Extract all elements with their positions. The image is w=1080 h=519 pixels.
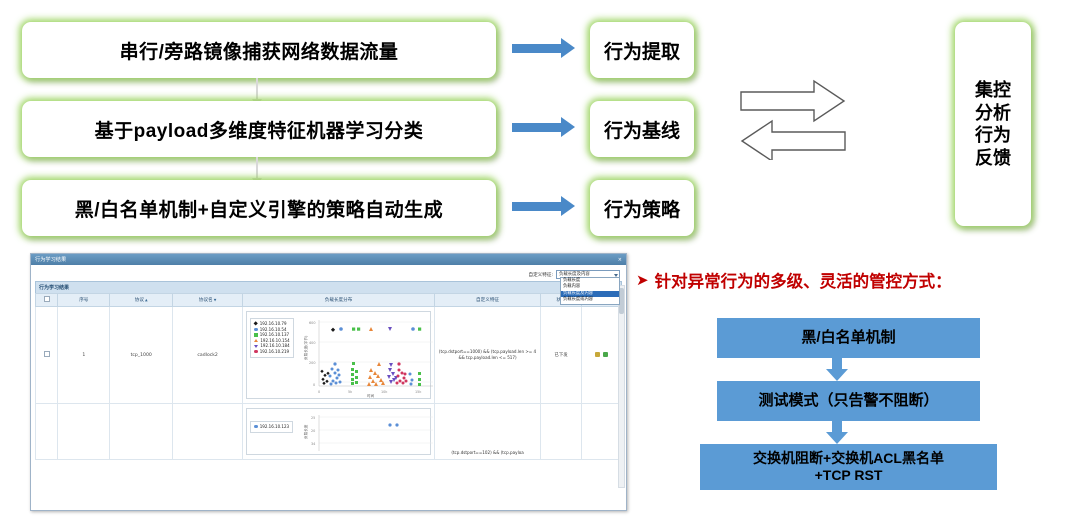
- row-expression-cell: (tcp.dstport==1000) && (tcp.payload.len …: [434, 307, 541, 404]
- flow-tag-box-2: 行为基线: [590, 101, 694, 157]
- flow-step-text-3: 黑/白名单机制+自定义引擎的策略自动生成: [75, 195, 443, 222]
- row-chart-cell: 192.16.10.79 192.16.10.54 192.16.10.137 …: [243, 307, 434, 404]
- flow-connector-1-2: [256, 78, 258, 100]
- row2-actions-cell: [581, 404, 621, 460]
- control-box-1: 黑/白名单机制: [717, 318, 980, 358]
- flow-connector-2-3: [256, 157, 258, 179]
- control-heading-text: 针对异常行为的多级、灵活的管控方式：: [655, 268, 952, 292]
- table-row[interactable]: 192.16.10.123 25 20 34: [36, 404, 622, 460]
- control-down-arrow-1: [826, 358, 848, 381]
- chart-1-points: [321, 327, 422, 386]
- results-table: 序号 协议 协议名 负载长度分布 自定义特征 状态 1 tcp_1000 cad…: [35, 293, 622, 460]
- flow-step-box-1: 串行/旁路镜像捕获网络数据流量: [22, 22, 496, 78]
- flow-step-text-1: 串行/旁路镜像捕获网络数据流量: [120, 37, 399, 64]
- edit-icon[interactable]: [595, 352, 600, 357]
- svg-text:600: 600: [309, 321, 315, 325]
- row2-index: [58, 404, 110, 460]
- row2-expression-cell: (tcp.dstport==102) && (tcp.payloa: [434, 404, 541, 460]
- flow-step-text-2: 基于payload多维度特征机器学习分类: [95, 116, 424, 143]
- apply-icon[interactable]: [603, 352, 608, 357]
- control-box-2: 测试模式（只告警不阻断）: [717, 381, 980, 421]
- flow-arrow-2: [512, 123, 562, 132]
- row2-status-cell: [541, 404, 581, 460]
- right-arrow-icon: [741, 81, 844, 121]
- flow-tag-box-1: 行为提取: [590, 22, 694, 78]
- central-control-line-3: 行为: [975, 124, 1011, 147]
- row2-checkbox-cell[interactable]: [36, 404, 58, 460]
- central-control-line-4: 反馈: [975, 147, 1011, 170]
- table-header-row: 序号 协议 协议名 负载长度分布 自定义特征 状态: [36, 294, 622, 307]
- col-select-all[interactable]: [36, 294, 58, 307]
- row-actions-cell: [581, 307, 621, 404]
- row2-chart-cell: 192.16.10.123 25 20 34: [243, 404, 434, 460]
- window-body: 自定义特征: 负载长度及内容 负载长度 负载内容 负载长度及内容 负载长度或内容…: [31, 265, 626, 510]
- window-title-bar: 行为学习结果 ×: [31, 254, 626, 265]
- svg-text:0: 0: [318, 390, 320, 394]
- window-title-text: 行为学习结果: [35, 256, 66, 263]
- row-protocol-name: cadlock2: [172, 307, 242, 404]
- svg-text:时间: 时间: [367, 393, 375, 398]
- bullet-icon: ➤: [636, 271, 649, 289]
- control-down-arrow-2: [826, 421, 848, 444]
- panel-title: 行为学习结果: [35, 281, 622, 293]
- svg-text:25: 25: [311, 416, 315, 420]
- col-index[interactable]: 序号: [58, 294, 110, 307]
- control-box-3: 交换机阻断+交换机ACL黑名单 +TCP RST: [700, 444, 997, 490]
- row2-protocol-name: [172, 404, 242, 460]
- flow-tag-text-2: 行为基线: [604, 116, 680, 143]
- svg-text:负载长度(字节): 负载长度(字节): [303, 335, 308, 360]
- central-control-box: 集控 分析 行为 反馈: [955, 22, 1031, 226]
- col-protocol[interactable]: 协议: [110, 294, 172, 307]
- control-box-3-line-2: +TCP RST: [815, 467, 883, 484]
- app-window: 行为学习结果 × 自定义特征: 负载长度及内容 负载长度 负载内容 负载长度及内…: [30, 253, 627, 511]
- row-index: 1: [58, 307, 110, 404]
- svg-text:0: 0: [313, 383, 315, 387]
- row2-expression: (tcp.dstport==102) && (tcp.payloa: [436, 449, 540, 457]
- window-footer: 批量生成自定义特征 批量清除状态 取消: [31, 510, 626, 511]
- vertical-scrollbar[interactable]: [618, 285, 625, 488]
- col-custom-feature[interactable]: 自定义特征: [434, 294, 541, 307]
- select-all-checkbox[interactable]: [44, 296, 50, 302]
- svg-text:负载长度: 负载长度: [303, 424, 308, 439]
- col-protocol-name[interactable]: 协议名: [172, 294, 242, 307]
- left-arrow-icon: [742, 121, 845, 160]
- status-badge: 已下发: [554, 353, 567, 358]
- central-control-line-1: 集控: [975, 79, 1011, 102]
- row-checkbox[interactable]: [44, 351, 50, 357]
- filter-label: 自定义特征:: [528, 272, 553, 278]
- flow-tag-text-3: 行为策略: [604, 195, 680, 222]
- flow-step-box-2: 基于payload多维度特征机器学习分类: [22, 101, 496, 157]
- col-payload-dist[interactable]: 负载长度分布: [243, 294, 434, 307]
- svg-text:5k: 5k: [348, 390, 352, 394]
- flow-arrow-1: [512, 44, 562, 53]
- control-box-1-text: 黑/白名单机制: [801, 329, 895, 347]
- row2-protocol: [110, 404, 172, 460]
- row-expression: (tcp.dstport==1000) && (tcp.payload.len …: [436, 348, 540, 362]
- svg-text:15k: 15k: [415, 390, 421, 394]
- svg-text:34: 34: [311, 442, 315, 446]
- control-box-3-line-1: 交换机阻断+交换机ACL黑名单: [753, 450, 944, 467]
- close-icon[interactable]: ×: [618, 257, 622, 263]
- payload-scatter-chart-2: 192.16.10.123 25 20 34: [246, 408, 430, 455]
- filter-row: 自定义特征: 负载长度及内容 负载长度 负载内容 负载长度及内容 负载长度或内容: [35, 267, 622, 281]
- flow-tag-text-1: 行为提取: [604, 37, 680, 64]
- custom-feature-dropdown-list[interactable]: 负载长度 负载内容 负载长度及内容 负载长度或内容: [560, 277, 620, 305]
- svg-text:10k: 10k: [381, 390, 387, 394]
- row-protocol: tcp_1000: [110, 307, 172, 404]
- flow-step-box-3: 黑/白名单机制+自定义引擎的策略自动生成: [22, 180, 496, 236]
- row-status-cell: 已下发: [541, 307, 581, 404]
- control-heading: ➤ 针对异常行为的多级、灵活的管控方式：: [636, 268, 952, 292]
- control-box-2-text: 测试模式（只告警不阻断）: [758, 392, 938, 410]
- flow-arrow-3: [512, 202, 562, 211]
- svg-text:20: 20: [311, 429, 315, 433]
- row-checkbox-cell[interactable]: [36, 307, 58, 404]
- flow-tag-box-3: 行为策略: [590, 180, 694, 236]
- payload-scatter-chart-1: 192.16.10.79 192.16.10.54 192.16.10.137 …: [246, 311, 430, 399]
- exchange-arrows: [738, 70, 848, 160]
- dropdown-option-3[interactable]: 负载长度或内容: [561, 297, 619, 303]
- table-row[interactable]: 1 tcp_1000 cadlock2 192.16.10.79 192.16.…: [36, 307, 622, 404]
- chart-1-plot: 600 400 200 0 0 5k 10k 15k 时间 负载长度(字节): [247, 312, 437, 398]
- svg-text:200: 200: [309, 361, 315, 365]
- chart-2-plot: 25 20 34 负载长度: [247, 409, 437, 454]
- central-control-line-2: 分析: [975, 102, 1011, 125]
- svg-text:400: 400: [309, 341, 315, 345]
